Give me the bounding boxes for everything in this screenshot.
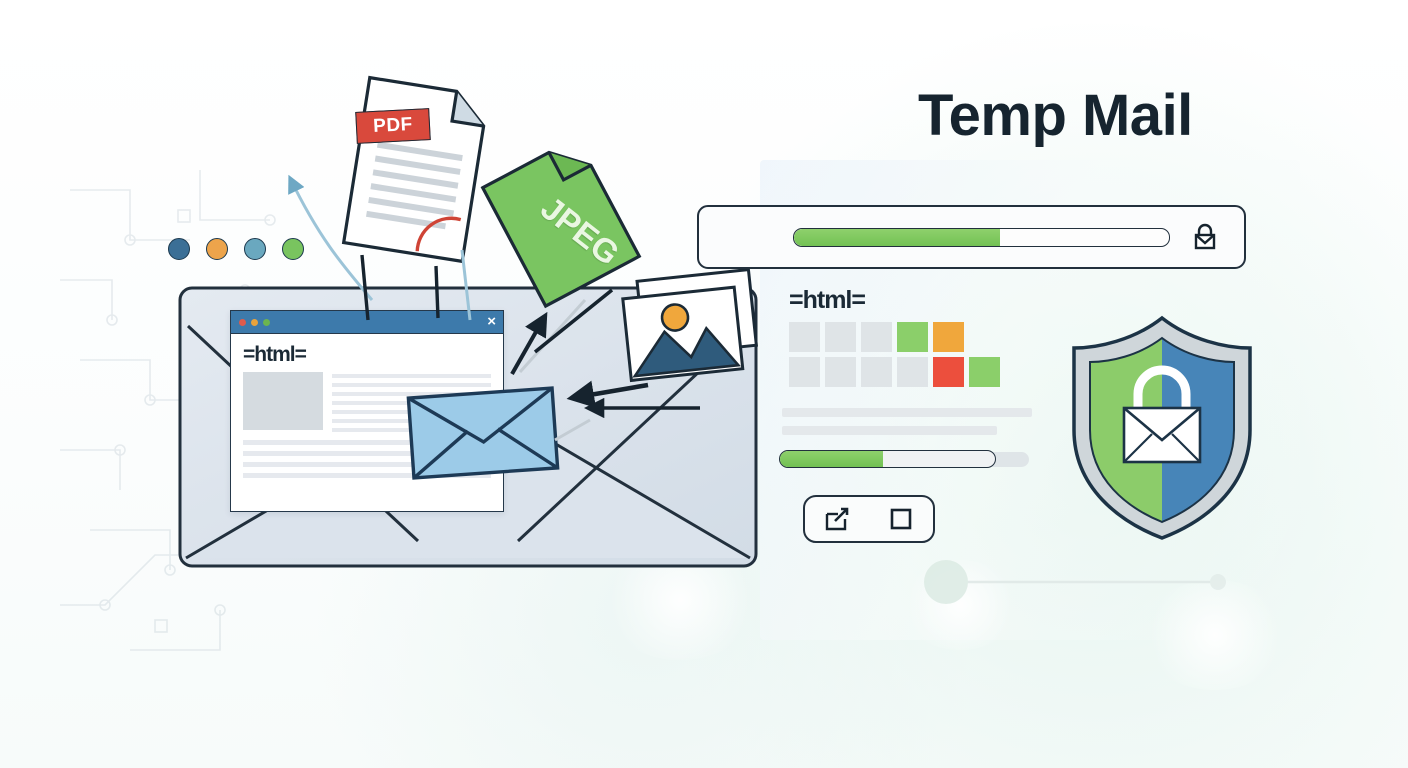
pdf-badge-label: PDF (373, 114, 414, 138)
grid-row (789, 322, 1000, 352)
color-grid (789, 322, 1000, 387)
compose-icon[interactable] (824, 506, 850, 532)
page-title: Temp Mail (918, 82, 1193, 149)
text-line (332, 383, 491, 387)
grid-cell (861, 322, 892, 352)
action-toolbar[interactable] (803, 495, 935, 543)
illustration-canvas: Temp Mail × =html= (0, 0, 1408, 768)
dot-teal (244, 238, 266, 260)
grid-cell (897, 357, 928, 387)
grid-cell (861, 357, 892, 387)
dot-blue (168, 238, 190, 260)
placeholder-line (782, 408, 1032, 417)
browser-title-bar: × (231, 311, 503, 334)
html-label: =html= (243, 344, 491, 365)
progress-bar-track[interactable] (793, 228, 1170, 247)
node-connector-line (900, 540, 1320, 620)
text-line (332, 374, 491, 378)
grid-row (789, 357, 1000, 387)
stop-square-icon[interactable] (888, 506, 914, 532)
dot-green (282, 238, 304, 260)
traffic-light-minimize-icon[interactable] (251, 319, 258, 326)
pdf-badge: PDF (355, 108, 431, 144)
grid-cell (789, 357, 820, 387)
progress-fill (780, 451, 883, 467)
content-image-placeholder (243, 372, 323, 430)
security-shield (1062, 312, 1262, 544)
grid-cell-red (933, 357, 964, 387)
progress-search-panel[interactable] (697, 205, 1246, 269)
html-grid-label: =html= (789, 288, 1000, 313)
grid-cell (789, 322, 820, 352)
pdf-document (339, 73, 493, 266)
grid-cell (825, 357, 856, 387)
dot-orange (206, 238, 228, 260)
grid-cell (825, 322, 856, 352)
sun-icon (661, 303, 690, 332)
grid-cell-green (897, 322, 928, 352)
close-icon[interactable]: × (487, 313, 496, 330)
html-grid-block: =html= (789, 288, 1000, 387)
status-dots (168, 238, 304, 260)
image-thumbnail-icon (615, 265, 766, 387)
traffic-light-close-icon[interactable] (239, 319, 246, 326)
grid-cell-orange (933, 322, 964, 352)
placeholder-line (782, 426, 997, 435)
blue-envelope-icon (405, 385, 561, 481)
grid-cell-green (969, 357, 1000, 387)
progress-bar-fill (794, 229, 1000, 246)
inbox-icon[interactable] (1188, 220, 1222, 254)
traffic-light-maximize-icon[interactable] (263, 319, 270, 326)
progress-track[interactable] (779, 450, 996, 468)
content-placeholder-lines (782, 408, 1032, 444)
secondary-progress-bar[interactable] (779, 450, 1024, 467)
